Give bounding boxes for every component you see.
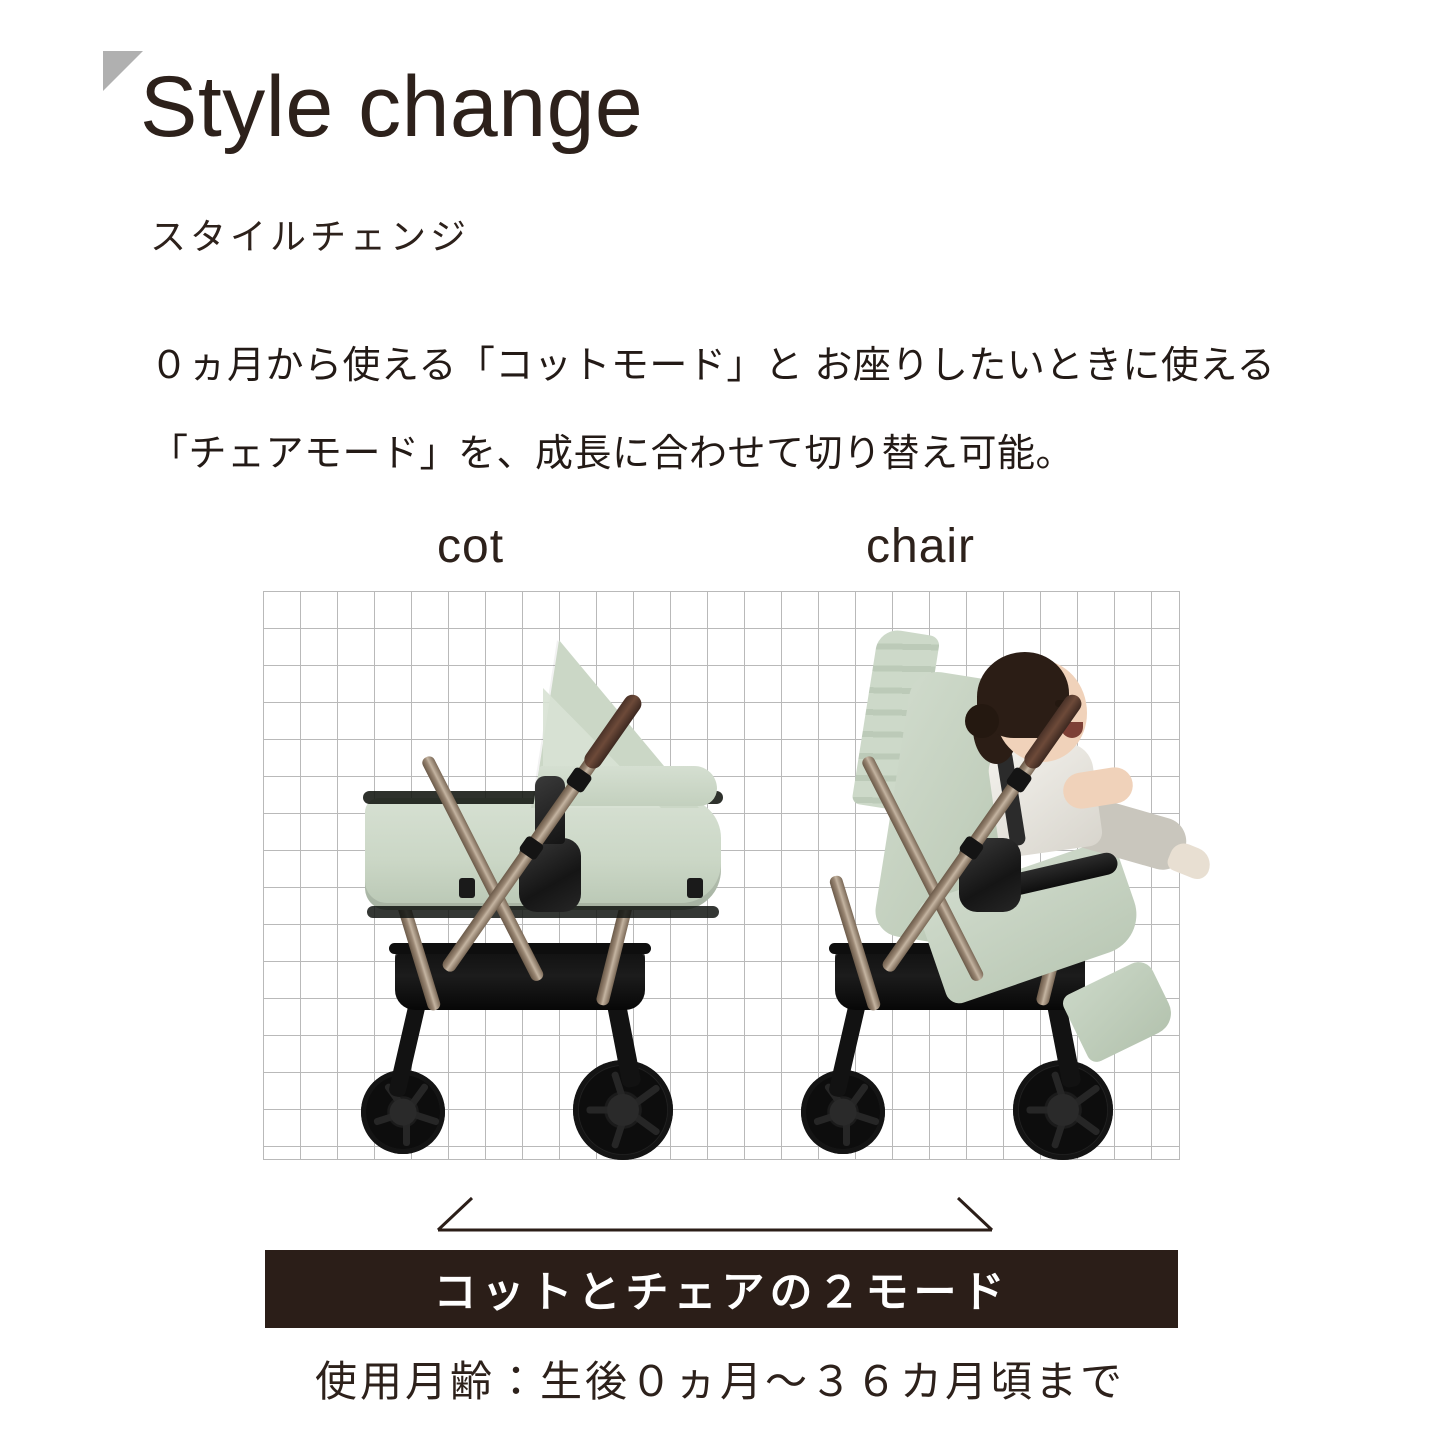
triangle-decoration-icon xyxy=(103,51,143,91)
stroller-chair-mode-with-child xyxy=(783,600,1203,1160)
page-subtitle: スタイルチェンジ xyxy=(150,208,470,260)
mode-label-cot: cot xyxy=(437,519,504,574)
age-range-caption: 使用月齢：生後０ヵ月〜３６カ月頃まで xyxy=(0,1348,1440,1409)
lead-paragraph: ０ヵ月から使える「コットモード」と お座りしたいときに使える 「チェアモード」を… xyxy=(150,322,1380,498)
width-dimension-arrow xyxy=(430,1190,1000,1242)
page-title: Style change xyxy=(140,62,643,152)
stroller-cot-mode xyxy=(343,600,763,1160)
mode-label-chair: chair xyxy=(866,519,975,574)
lead-line-2: 「チェアモード」を、成長に合わせて切り替え可能。 xyxy=(150,410,1380,498)
cot-tab-left xyxy=(459,878,475,898)
lead-line-1: ０ヵ月から使える「コットモード」と お座りしたいときに使える xyxy=(150,322,1380,410)
stroller-comparison-stage xyxy=(263,591,1180,1160)
banner-text: コットとチェアの２モード xyxy=(434,1258,1010,1320)
mode-summary-banner: コットとチェアの２モード xyxy=(265,1250,1178,1328)
cot-tab-right xyxy=(687,878,703,898)
